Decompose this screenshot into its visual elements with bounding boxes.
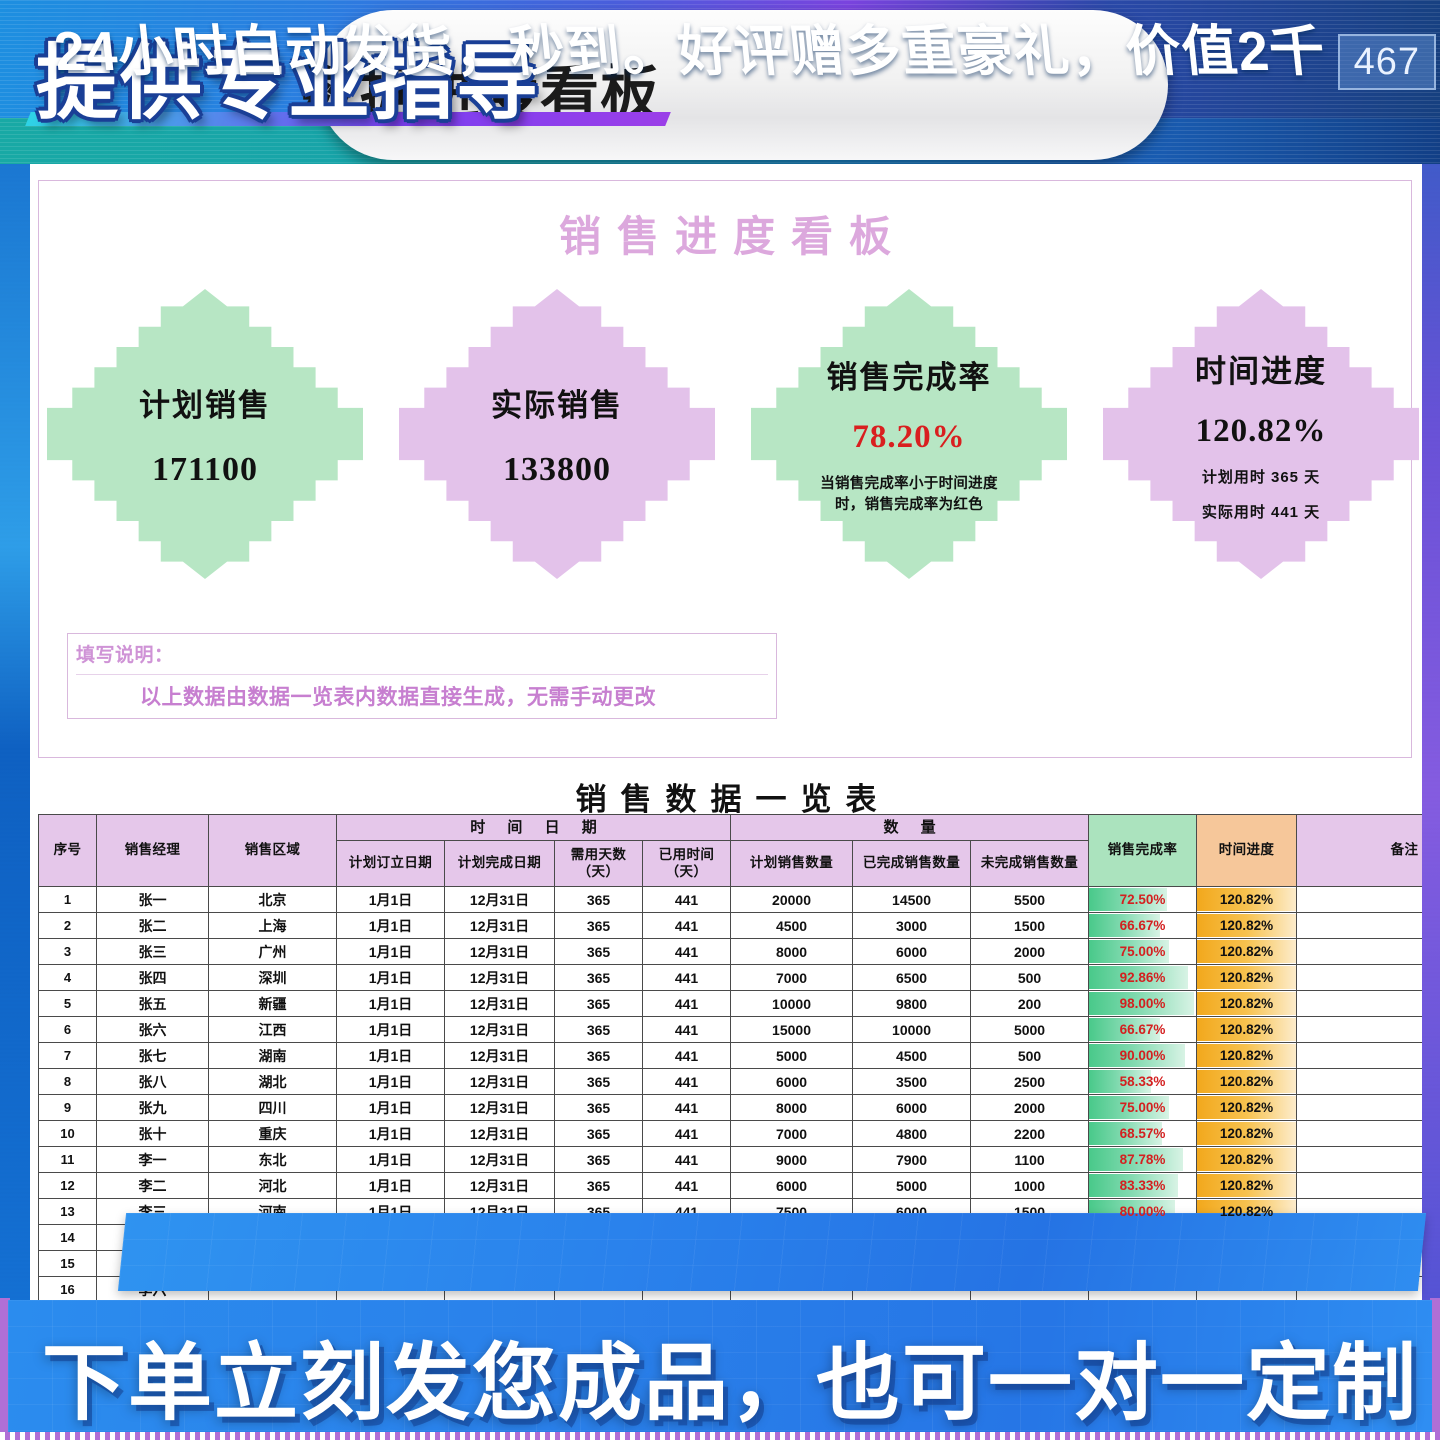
cell-need-days[interactable]: 365: [555, 1069, 643, 1095]
left-edge-decoration: [0, 0, 30, 1440]
promo-banner-shipping-text: 24小时自动发货，秒到。好评赠多重豪礼，价值2千: [50, 6, 1329, 86]
time-value: 120.82%: [1220, 944, 1273, 959]
table-row[interactable]: 8张八湖北1月1日12月31日36544160003500250058.33%1…: [39, 1069, 1423, 1095]
cell-plan-start[interactable]: 1月1日: [337, 887, 445, 913]
cell-time-progress[interactable]: 120.82%: [1197, 965, 1297, 991]
cell-used-days[interactable]: 441: [643, 965, 731, 991]
cell-plan-qty[interactable]: 4500: [731, 913, 853, 939]
cell-idx[interactable]: 5: [39, 991, 97, 1017]
cell-need-days[interactable]: 365: [555, 939, 643, 965]
cell-manager[interactable]: 张八: [97, 1069, 209, 1095]
cell-completion-rate[interactable]: 90.00%: [1089, 1043, 1197, 1069]
cell-manager[interactable]: 张三: [97, 939, 209, 965]
cell-plan-end[interactable]: 12月31日: [445, 1043, 555, 1069]
col-header-plan-end: 计划完成日期: [445, 841, 555, 887]
cell-plan-qty[interactable]: 8000: [731, 1095, 853, 1121]
col-group-header-quantity: 数 量: [731, 815, 1089, 841]
cell-completion-rate[interactable]: 75.00%: [1089, 1095, 1197, 1121]
time-value: 120.82%: [1220, 892, 1273, 907]
cell-idx[interactable]: 7: [39, 1043, 97, 1069]
time-value: 120.82%: [1220, 1204, 1273, 1219]
kpi-note: 当销售完成率小于时间进度时，销售完成率为红色: [817, 474, 1002, 516]
cell-plan-end[interactable]: 12月31日: [445, 1121, 555, 1147]
time-value: 120.82%: [1220, 996, 1273, 1011]
cell-left-qty[interactable]: 1100: [971, 1147, 1089, 1173]
cell-plan-end[interactable]: 12月31日: [445, 1017, 555, 1043]
cell-need-days[interactable]: 365: [555, 991, 643, 1017]
cell-need-days[interactable]: 365: [555, 887, 643, 913]
cell-plan-start[interactable]: 1月1日: [337, 1095, 445, 1121]
cell-used-days[interactable]: 441: [643, 887, 731, 913]
cell-left-qty[interactable]: 1500: [971, 913, 1089, 939]
cell-time-progress[interactable]: 120.82%: [1197, 1173, 1297, 1199]
cell-used-days[interactable]: 441: [643, 913, 731, 939]
cell-region[interactable]: 湖北: [209, 1069, 337, 1095]
kpi-label: 计划销售: [139, 380, 271, 425]
cell-completion-rate[interactable]: 87.78%: [1089, 1147, 1197, 1173]
col-header-index: 序号: [39, 815, 97, 887]
time-value: 120.82%: [1220, 1022, 1273, 1037]
cell-done-qty[interactable]: 6500: [853, 965, 971, 991]
kpi-value: 120.82%: [1196, 413, 1327, 450]
col-header-left-qty: 未完成销售数量: [971, 841, 1089, 887]
col-header-region: 销售区域: [209, 815, 337, 887]
col-header-done-qty: 已完成销售数量: [853, 841, 971, 887]
cell-done-qty[interactable]: 4500: [853, 1043, 971, 1069]
kpi-value: 78.20%: [852, 419, 965, 456]
cell-completion-rate[interactable]: 66.67%: [1089, 1017, 1197, 1043]
cell-left-qty[interactable]: 5500: [971, 887, 1089, 913]
cell-left-qty[interactable]: 500: [971, 1043, 1089, 1069]
cell-completion-rate[interactable]: 72.50%: [1089, 887, 1197, 913]
cell-left-qty[interactable]: 2000: [971, 939, 1089, 965]
cell-remark[interactable]: [1297, 965, 1422, 991]
cell-region[interactable]: 四川: [209, 1095, 337, 1121]
col-header-plan-start: 计划订立日期: [337, 841, 445, 887]
time-value: 120.82%: [1220, 1100, 1273, 1115]
promo-banner-custom: 下单立刻发您成品，也可一对一定制: [8, 1300, 1432, 1432]
rate-value: 83.33%: [1120, 1178, 1166, 1193]
col-group-header-time: 时 间 日 期: [337, 815, 731, 841]
cell-done-qty[interactable]: 6000: [853, 1095, 971, 1121]
cell-left-qty[interactable]: 2500: [971, 1069, 1089, 1095]
cell-region[interactable]: 河北: [209, 1173, 337, 1199]
kpi-card-completion-rate[interactable]: 销售完成率 78.20% 当销售完成率小于时间进度时，销售完成率为红色: [751, 289, 1067, 579]
cell-left-qty[interactable]: 5000: [971, 1017, 1089, 1043]
table-row[interactable]: 12李二河北1月1日12月31日36544160005000100083.33%…: [39, 1173, 1423, 1199]
cell-used-days[interactable]: 441: [643, 1017, 731, 1043]
cell-time-progress[interactable]: 120.82%: [1197, 887, 1297, 913]
cell-plan-start[interactable]: 1月1日: [337, 965, 445, 991]
col-header-used-days: 已用时间（天）: [643, 841, 731, 887]
cell-remark[interactable]: [1297, 1043, 1422, 1069]
cell-manager[interactable]: 张四: [97, 965, 209, 991]
cell-left-qty[interactable]: 2200: [971, 1121, 1089, 1147]
cell-region[interactable]: 上海: [209, 913, 337, 939]
rate-value: 75.00%: [1120, 1100, 1166, 1115]
rate-value: 87.78%: [1120, 1152, 1166, 1167]
cell-region[interactable]: 湖南: [209, 1043, 337, 1069]
promo-circuit-pattern: [118, 1213, 1426, 1291]
cell-plan-start[interactable]: 1月1日: [337, 939, 445, 965]
cell-used-days[interactable]: 441: [643, 1147, 731, 1173]
cell-plan-start[interactable]: 1月1日: [337, 913, 445, 939]
table-head: 序号 销售经理 销售区域 时 间 日 期 数 量 销售完成率 时间进度 备注 计…: [39, 815, 1423, 887]
time-value: 120.82%: [1220, 1178, 1273, 1193]
instruction-divider: [76, 674, 768, 675]
rate-value: 66.67%: [1120, 1022, 1166, 1037]
rate-value: 90.00%: [1120, 1048, 1166, 1063]
rate-value: 92.86%: [1120, 970, 1166, 985]
table-row[interactable]: 4张四深圳1月1日12月31日3654417000650050092.86%12…: [39, 965, 1423, 991]
cell-time-progress[interactable]: 120.82%: [1197, 1121, 1297, 1147]
cell-plan-end[interactable]: 12月31日: [445, 1147, 555, 1173]
cell-plan-end[interactable]: 12月31日: [445, 1173, 555, 1199]
cell-time-progress[interactable]: 120.82%: [1197, 991, 1297, 1017]
time-value: 120.82%: [1220, 1074, 1273, 1089]
cell-region[interactable]: 深圳: [209, 965, 337, 991]
cell-need-days[interactable]: 365: [555, 1095, 643, 1121]
cell-plan-end[interactable]: 12月31日: [445, 913, 555, 939]
cell-plan-end[interactable]: 12月31日: [445, 991, 555, 1017]
cell-idx[interactable]: 8: [39, 1069, 97, 1095]
col-header-need-days: 需用天数（天）: [555, 841, 643, 887]
cell-plan-end[interactable]: 12月31日: [445, 1069, 555, 1095]
cell-region[interactable]: 北京: [209, 887, 337, 913]
cell-manager[interactable]: 张二: [97, 913, 209, 939]
cell-time-progress[interactable]: 120.82%: [1197, 1043, 1297, 1069]
table-row[interactable]: 9张九四川1月1日12月31日36544180006000200075.00%1…: [39, 1095, 1423, 1121]
cell-plan-qty[interactable]: 9000: [731, 1147, 853, 1173]
cell-completion-rate[interactable]: 75.00%: [1089, 939, 1197, 965]
cell-need-days[interactable]: 365: [555, 1043, 643, 1069]
cell-manager[interactable]: 李一: [97, 1147, 209, 1173]
page-root: 数据进度看板 提供专业指导 467 销售进度看板 计划销售 171100 实际销…: [0, 0, 1440, 1440]
cell-manager[interactable]: 张六: [97, 1017, 209, 1043]
cell-manager[interactable]: 张一: [97, 887, 209, 913]
cell-completion-rate[interactable]: 68.57%: [1089, 1121, 1197, 1147]
instruction-box: 填写说明： 以上数据由数据一览表内数据直接生成，无需手动更改: [67, 633, 777, 719]
cell-plan-qty[interactable]: 10000: [731, 991, 853, 1017]
cell-done-qty[interactable]: 7900: [853, 1147, 971, 1173]
table-row[interactable]: 7张七湖南1月1日12月31日3654415000450050090.00%12…: [39, 1043, 1423, 1069]
dashboard-panel: 销售进度看板 计划销售 171100 实际销售 133800 销售完成率 78.…: [38, 180, 1412, 758]
cell-plan-end[interactable]: 12月31日: [445, 887, 555, 913]
col-header-remark: 备注: [1297, 815, 1422, 887]
cell-remark[interactable]: [1297, 1121, 1422, 1147]
cell-completion-rate[interactable]: 58.33%: [1089, 1069, 1197, 1095]
rate-value: 68.57%: [1120, 1126, 1166, 1141]
bottom-dotted-border: [0, 1432, 1440, 1440]
time-value: 120.82%: [1220, 1152, 1273, 1167]
cell-remark[interactable]: [1297, 1173, 1422, 1199]
cell-need-days[interactable]: 365: [555, 1173, 643, 1199]
cell-done-qty[interactable]: 4800: [853, 1121, 971, 1147]
cell-manager[interactable]: 张五: [97, 991, 209, 1017]
cell-region[interactable]: 广州: [209, 939, 337, 965]
cell-region[interactable]: 重庆: [209, 1121, 337, 1147]
table-group-header-row: 序号 销售经理 销售区域 时 间 日 期 数 量 销售完成率 时间进度 备注: [39, 815, 1423, 841]
kpi-label: 销售完成率: [827, 352, 992, 397]
kpi-sub-planned-days: 计划用时 365 天: [1202, 466, 1320, 487]
cell-used-days[interactable]: 441: [643, 1121, 731, 1147]
rate-value: 80.00%: [1120, 1204, 1166, 1219]
cell-plan-qty[interactable]: 6000: [731, 1173, 853, 1199]
cell-need-days[interactable]: 365: [555, 913, 643, 939]
cell-idx[interactable]: 14: [39, 1225, 97, 1251]
cell-plan-start[interactable]: 1月1日: [337, 1069, 445, 1095]
cell-time-progress[interactable]: 120.82%: [1197, 1095, 1297, 1121]
cell-manager[interactable]: 张七: [97, 1043, 209, 1069]
cell-used-days[interactable]: 441: [643, 991, 731, 1017]
cell-plan-qty[interactable]: 5000: [731, 1043, 853, 1069]
cell-done-qty[interactable]: 5000: [853, 1173, 971, 1199]
cell-idx[interactable]: 6: [39, 1017, 97, 1043]
rate-value: 75.00%: [1120, 944, 1166, 959]
cell-need-days[interactable]: 365: [555, 1147, 643, 1173]
cell-remark[interactable]: [1297, 913, 1422, 939]
cell-time-progress[interactable]: 120.82%: [1197, 1017, 1297, 1043]
kpi-value: 133800: [503, 451, 611, 489]
cell-completion-rate[interactable]: 92.86%: [1089, 965, 1197, 991]
cell-used-days[interactable]: 441: [643, 1043, 731, 1069]
cell-done-qty[interactable]: 3000: [853, 913, 971, 939]
instruction-body: 以上数据由数据一览表内数据直接生成，无需手动更改: [140, 681, 656, 711]
kpi-row: 计划销售 171100 实际销售 133800 销售完成率 78.20% 当销售…: [39, 289, 1413, 589]
table-row[interactable]: 3张三广州1月1日12月31日36544180006000200075.00%1…: [39, 939, 1423, 965]
rate-value: 72.50%: [1120, 892, 1166, 907]
cell-need-days[interactable]: 365: [555, 1017, 643, 1043]
instruction-title: 填写说明：: [76, 640, 174, 667]
kpi-sub-actual-days: 实际用时 441 天: [1202, 501, 1320, 522]
cell-plan-end[interactable]: 12月31日: [445, 965, 555, 991]
cell-idx[interactable]: 1: [39, 887, 97, 913]
cell-plan-end[interactable]: 12月31日: [445, 1095, 555, 1121]
cell-manager[interactable]: 李二: [97, 1173, 209, 1199]
cell-plan-start[interactable]: 1月1日: [337, 1173, 445, 1199]
cell-region[interactable]: 新疆: [209, 991, 337, 1017]
table-row[interactable]: 5张五新疆1月1日12月31日36544110000980020098.00%1…: [39, 991, 1423, 1017]
cell-completion-rate[interactable]: 98.00%: [1089, 991, 1197, 1017]
cell-idx[interactable]: 16: [39, 1277, 97, 1303]
cell-completion-rate[interactable]: 66.67%: [1089, 913, 1197, 939]
count-badge: 467: [1338, 34, 1436, 90]
cell-idx[interactable]: 10: [39, 1121, 97, 1147]
cell-done-qty[interactable]: 10000: [853, 1017, 971, 1043]
cell-need-days[interactable]: 365: [555, 1121, 643, 1147]
cell-remark[interactable]: [1297, 1069, 1422, 1095]
spreadsheet-sheet: 销售进度看板 计划销售 171100 实际销售 133800 销售完成率 78.…: [30, 164, 1422, 1302]
cell-used-days[interactable]: 441: [643, 1095, 731, 1121]
rate-value: 98.00%: [1120, 996, 1166, 1011]
cell-used-days[interactable]: 441: [643, 1173, 731, 1199]
time-value: 120.82%: [1220, 918, 1273, 933]
col-header-completion-rate: 销售完成率: [1089, 815, 1197, 887]
cell-used-days[interactable]: 441: [643, 1069, 731, 1095]
cell-left-qty[interactable]: 200: [971, 991, 1089, 1017]
cell-idx[interactable]: 2: [39, 913, 97, 939]
cell-left-qty[interactable]: 500: [971, 965, 1089, 991]
cell-plan-end[interactable]: 12月31日: [445, 939, 555, 965]
cell-manager[interactable]: 张十: [97, 1121, 209, 1147]
cell-remark[interactable]: [1297, 1095, 1422, 1121]
kpi-value: 171100: [152, 451, 258, 489]
time-value: 120.82%: [1220, 1126, 1273, 1141]
cell-plan-qty[interactable]: 7000: [731, 1121, 853, 1147]
kpi-card-actual-sales[interactable]: 实际销售 133800: [399, 289, 715, 579]
kpi-card-time-progress[interactable]: 时间进度 120.82% 计划用时 365 天 实际用时 441 天: [1103, 289, 1419, 579]
promo-banner-shipping: [118, 1213, 1426, 1291]
cell-plan-start[interactable]: 1月1日: [337, 1043, 445, 1069]
cell-remark[interactable]: [1297, 939, 1422, 965]
cell-region[interactable]: 东北: [209, 1147, 337, 1173]
cell-plan-start[interactable]: 1月1日: [337, 1147, 445, 1173]
cell-left-qty[interactable]: 1000: [971, 1173, 1089, 1199]
cell-plan-qty[interactable]: 7000: [731, 965, 853, 991]
rate-value: 66.67%: [1120, 918, 1166, 933]
cell-done-qty[interactable]: 9800: [853, 991, 971, 1017]
cell-idx[interactable]: 13: [39, 1199, 97, 1225]
cell-idx[interactable]: 12: [39, 1173, 97, 1199]
table-row[interactable]: 10张十重庆1月1日12月31日36544170004800220068.57%…: [39, 1121, 1423, 1147]
cell-plan-qty[interactable]: 15000: [731, 1017, 853, 1043]
table-row[interactable]: 11李一东北1月1日12月31日36544190007900110087.78%…: [39, 1147, 1423, 1173]
cell-completion-rate[interactable]: 83.33%: [1089, 1173, 1197, 1199]
col-header-manager: 销售经理: [97, 815, 209, 887]
cell-remark[interactable]: [1297, 991, 1422, 1017]
cell-time-progress[interactable]: 120.82%: [1197, 1069, 1297, 1095]
promo-banner-custom-text: 下单立刻发您成品，也可一对一定制: [42, 1316, 1418, 1432]
cell-idx[interactable]: 9: [39, 1095, 97, 1121]
cell-idx[interactable]: 15: [39, 1251, 97, 1277]
cell-remark[interactable]: [1297, 1147, 1422, 1173]
cell-idx[interactable]: 4: [39, 965, 97, 991]
cell-plan-start[interactable]: 1月1日: [337, 1017, 445, 1043]
table-title: 销售数据一览表: [30, 774, 1422, 819]
cell-idx[interactable]: 3: [39, 939, 97, 965]
time-value: 120.82%: [1220, 1048, 1273, 1063]
cell-used-days[interactable]: 441: [643, 939, 731, 965]
kpi-card-planned-sales[interactable]: 计划销售 171100: [47, 289, 363, 579]
cell-manager[interactable]: 张九: [97, 1095, 209, 1121]
cell-plan-qty[interactable]: 6000: [731, 1069, 853, 1095]
cell-plan-qty[interactable]: 8000: [731, 939, 853, 965]
cell-remark[interactable]: [1297, 887, 1422, 913]
cell-done-qty[interactable]: 6000: [853, 939, 971, 965]
cell-idx[interactable]: 11: [39, 1147, 97, 1173]
cell-done-qty[interactable]: 3500: [853, 1069, 971, 1095]
table-row[interactable]: 6张六江西1月1日12月31日3654411500010000500066.67…: [39, 1017, 1423, 1043]
cell-time-progress[interactable]: 120.82%: [1197, 913, 1297, 939]
col-header-time-progress: 时间进度: [1197, 815, 1297, 887]
table-row[interactable]: 2张二上海1月1日12月31日36544145003000150066.67%1…: [39, 913, 1423, 939]
cell-done-qty[interactable]: 14500: [853, 887, 971, 913]
cell-need-days[interactable]: 365: [555, 965, 643, 991]
table-row[interactable]: 1张一北京1月1日12月31日3654412000014500550072.50…: [39, 887, 1423, 913]
time-value: 120.82%: [1220, 970, 1273, 985]
col-header-plan-qty: 计划销售数量: [731, 841, 853, 887]
kpi-label: 时间进度: [1195, 346, 1327, 391]
cell-plan-start[interactable]: 1月1日: [337, 1121, 445, 1147]
cell-plan-qty[interactable]: 20000: [731, 887, 853, 913]
cell-left-qty[interactable]: 2000: [971, 1095, 1089, 1121]
cell-region[interactable]: 江西: [209, 1017, 337, 1043]
cell-time-progress[interactable]: 120.82%: [1197, 1147, 1297, 1173]
rate-value: 58.33%: [1120, 1074, 1166, 1089]
cell-plan-start[interactable]: 1月1日: [337, 991, 445, 1017]
kpi-label: 实际销售: [491, 380, 623, 425]
cell-remark[interactable]: [1297, 1017, 1422, 1043]
dashboard-title: 销售进度看板: [39, 203, 1411, 264]
cell-time-progress[interactable]: 120.82%: [1197, 939, 1297, 965]
